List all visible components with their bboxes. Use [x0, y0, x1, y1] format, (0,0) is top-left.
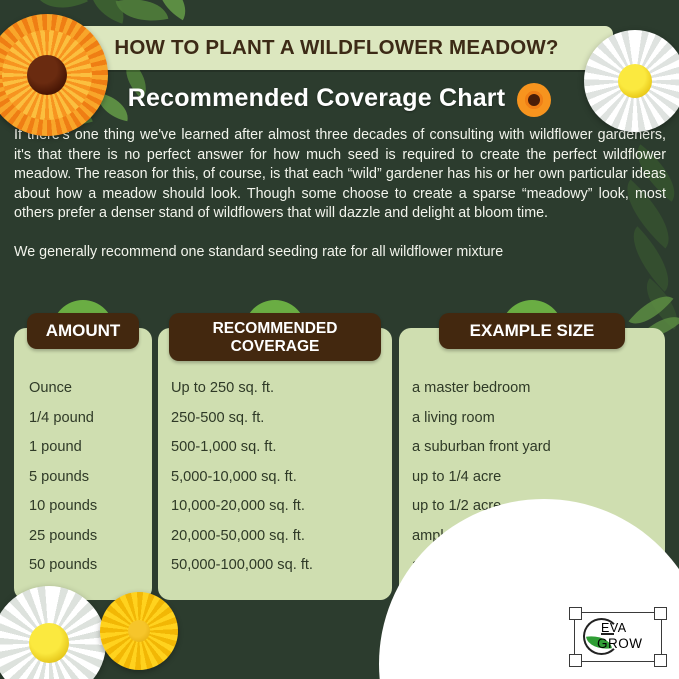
logo-text-grow: GROW [597, 636, 643, 651]
table-row: Up to 250 sq. ft. [171, 374, 405, 404]
table-row: 5,000-10,000 sq. ft. [171, 463, 405, 493]
table-row: 1/4 pound [29, 404, 167, 434]
paragraph-recommendation: We generally recommend one standard seed… [14, 243, 666, 263]
flower-core [29, 623, 69, 663]
column-header-label-line1: RECOMMENDED [213, 320, 338, 338]
table-row: 5 pounds [29, 463, 167, 493]
table-row: a suburban front yard [412, 433, 678, 463]
column-header-recommended-coverage: RECOMMENDED COVERAGE [169, 313, 381, 361]
small-orange-flower-icon [517, 83, 551, 117]
table-row: 10,000-20,000 sq. ft. [171, 492, 405, 522]
column-header-amount: AMOUNT [27, 313, 139, 349]
logo-frame: EVA GROW [574, 612, 662, 662]
column-header-label: AMOUNT [46, 321, 121, 341]
table-row: a living room [412, 404, 678, 434]
table-row: 500-1,000 sq. ft. [171, 433, 405, 463]
flower-core [528, 94, 540, 106]
column-rows-coverage: Up to 250 sq. ft. 250-500 sq. ft. 500-1,… [158, 374, 405, 581]
yellow-flower-bottom-left [100, 592, 178, 670]
flower-core [27, 55, 67, 95]
table-row: 25 pounds [29, 522, 167, 552]
table-row: 10 pounds [29, 492, 167, 522]
table-row: 1 pound [29, 433, 167, 463]
logo-corner-tab [569, 654, 582, 667]
table-row: up to 1/4 acre [412, 463, 678, 493]
page-title: HOW TO PLANT A WILDFLOWER MEADOW? [114, 36, 558, 60]
title-banner: HOW TO PLANT A WILDFLOWER MEADOW? [60, 26, 613, 70]
logo-text-eva: EVA [601, 621, 627, 635]
table-row: a master bedroom [412, 374, 678, 404]
table-row: Ounce [29, 374, 167, 404]
subtitle-text: Recommended Coverage Chart [128, 84, 506, 113]
white-daisy-bottom-left [0, 586, 106, 679]
paragraph-intro: If there's one thing we've learned after… [14, 126, 666, 224]
table-row: 50 pounds [29, 551, 167, 581]
column-header-label-line2: COVERAGE [213, 338, 338, 356]
logo-corner-tab [654, 654, 667, 667]
logo-corner-tab [569, 607, 582, 620]
table-row: 50,000-100,000 sq. ft. [171, 551, 405, 581]
infographic-canvas: HOW TO PLANT A WILDFLOWER MEADOW? Recomm… [0, 0, 679, 679]
white-daisy-top-right [584, 30, 679, 132]
logo-corner-tab [654, 607, 667, 620]
column-rows-amount: Ounce 1/4 pound 1 pound 5 pounds 10 poun… [14, 374, 167, 581]
orange-flower-top-left [0, 14, 108, 136]
column-header-label: EXAMPLE SIZE [470, 321, 595, 341]
column-header-example-size: EXAMPLE SIZE [439, 313, 625, 349]
flower-core [618, 64, 652, 98]
body-copy: If there's one thing we've learned after… [14, 126, 666, 263]
flower-core [128, 620, 150, 642]
table-row: 20,000-50,000 sq. ft. [171, 522, 405, 552]
brand-logo-eva-grow: EVA GROW [571, 609, 665, 665]
table-row: 250-500 sq. ft. [171, 404, 405, 434]
